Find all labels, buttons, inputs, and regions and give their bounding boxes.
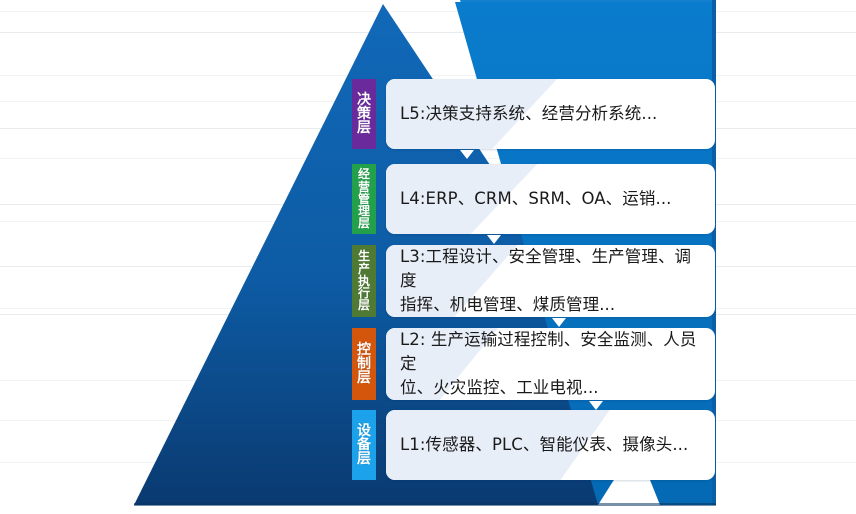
level-card-l5[interactable]: L5:决策支持系统、经营分析系统... [386,79,715,149]
level-card-l4[interactable]: L4:ERP、CRM、SRM、OA、运销... [386,164,715,234]
level-tag-char: 层 [357,121,371,135]
chevron-down-icon [487,235,501,244]
level-row-l3[interactable]: 生 产 执 行 层 L3:工程设计、安全管理、生产管理、调度 指挥、机电管理、煤… [352,245,715,317]
level-tag-char: 层 [358,299,370,311]
level-text-line: L4:ERP、CRM、SRM、OA、运销... [400,187,672,211]
level-tag-char: 层 [358,217,370,229]
level-tag-char: 控 [357,343,371,357]
level-row-l2[interactable]: 控 制 层 L2: 生产运输过程控制、安全监测、人员定 位、火灾监控、工业电视.… [352,328,715,400]
level-text-line: 指挥、机电管理、煤质管理... [400,293,701,317]
level-text-l1: L1:传感器、PLC、智能仪表、摄像头... [400,433,688,457]
level-text-line: L3:工程设计、安全管理、生产管理、调度 [400,245,701,293]
level-card-l3[interactable]: L3:工程设计、安全管理、生产管理、调度 指挥、机电管理、煤质管理... [386,245,715,317]
level-tag-char: 制 [357,357,371,371]
level-text-line: L2: 生产运输过程控制、安全监测、人员定 [400,328,701,376]
level-text-l2: L2: 生产运输过程控制、安全监测、人员定 位、火灾监控、工业电视... [400,328,701,400]
level-row-l5[interactable]: 决 策 层 L5:决策支持系统、经营分析系统... [352,79,715,149]
level-tag-l1: 设 备 层 [352,410,376,480]
chevron-down-icon [460,150,474,159]
level-card-l2[interactable]: L2: 生产运输过程控制、安全监测、人员定 位、火灾监控、工业电视... [386,328,715,400]
level-tag-char: 决 [357,93,371,107]
chevron-down-icon [552,318,566,327]
level-tag-char: 设 [357,424,371,438]
level-text-l3: L3:工程设计、安全管理、生产管理、调度 指挥、机电管理、煤质管理... [400,245,701,317]
level-text-line: L5:决策支持系统、经营分析系统... [400,102,657,126]
level-tag-char: 备 [357,438,371,452]
level-row-l4[interactable]: 经 营 管 理 层 L4:ERP、CRM、SRM、OA、运销... [352,164,715,234]
level-tag-l2: 控 制 层 [352,328,376,400]
level-tag-char: 策 [357,107,371,121]
levels-container: 决 策 层 L5:决策支持系统、经营分析系统... 经 营 管 理 层 [0,0,856,514]
level-card-l1[interactable]: L1:传感器、PLC、智能仪表、摄像头... [386,410,715,480]
level-tag-char: 层 [357,371,371,385]
level-row-l1[interactable]: 设 备 层 L1:传感器、PLC、智能仪表、摄像头... [352,410,715,480]
level-text-l4: L4:ERP、CRM、SRM、OA、运销... [400,187,672,211]
level-text-line: 位、火灾监控、工业电视... [400,376,701,400]
level-tag-l3: 生 产 执 行 层 [352,245,376,317]
level-tag-char: 生 [358,250,370,262]
level-tag-l5: 决 策 层 [352,79,376,149]
level-tag-char: 经 [358,168,370,180]
diagram-canvas: 决 策 层 L5:决策支持系统、经营分析系统... 经 营 管 理 层 [0,0,856,514]
level-tag-char: 层 [357,452,371,466]
level-text-l5: L5:决策支持系统、经营分析系统... [400,102,657,126]
chevron-down-icon [589,401,603,410]
level-text-line: L1:传感器、PLC、智能仪表、摄像头... [400,433,688,457]
level-tag-l4: 经 营 管 理 层 [352,164,376,234]
